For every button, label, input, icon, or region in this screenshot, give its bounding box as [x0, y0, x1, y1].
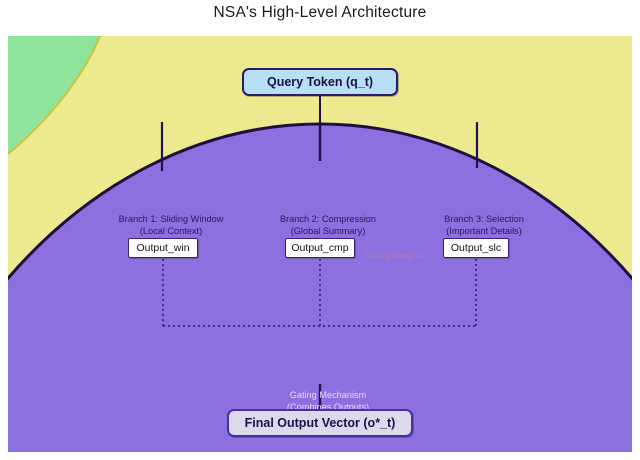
query-token-node[interactable]: Query Token (q_t)	[242, 68, 398, 96]
output-slc-node[interactable]: Output_slc	[443, 238, 509, 258]
output-cmp-node[interactable]: Output_cmp	[285, 238, 355, 258]
page-title: NSA's High-Level Architecture	[0, 4, 640, 22]
diagram-page: NSA's High-Level Architecture	[0, 0, 640, 460]
branch-1-label: Branch 1: Sliding Window (Local Context)	[96, 214, 246, 237]
branch-3-label: Branch 3: Selection (Important Details)	[408, 214, 560, 237]
gating-bracket	[163, 259, 476, 326]
branch-2-label: Branch 2: Compression (Global Summary)	[252, 214, 404, 237]
output-win-node[interactable]: Output_win	[128, 238, 198, 258]
final-output-vector-node[interactable]: Final Output Vector (o*_t)	[227, 409, 413, 437]
